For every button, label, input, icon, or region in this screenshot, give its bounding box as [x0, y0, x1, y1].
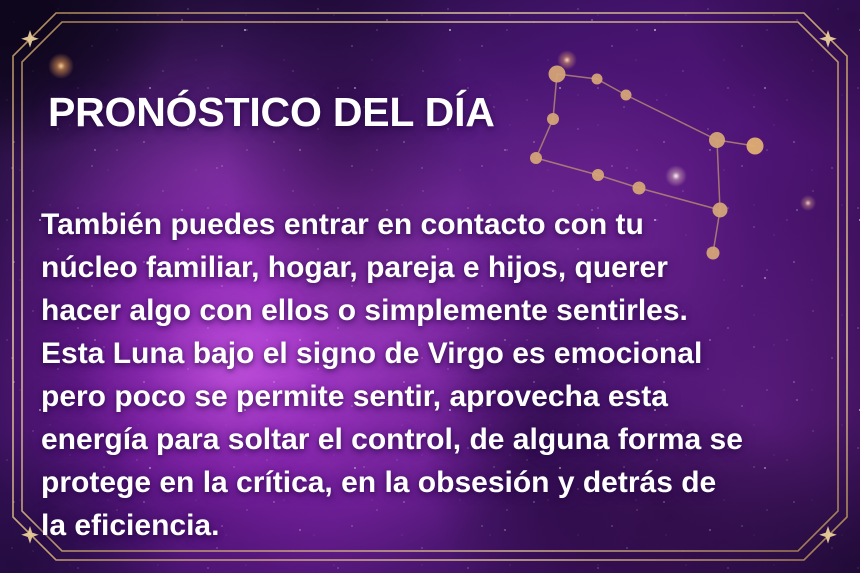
body-line: energía para soltar el control, de algun…: [41, 418, 831, 461]
card-content: PRONÓSTICO DEL DÍA También puedes entrar…: [0, 0, 860, 573]
body-line: protege en la crítica, en la obsesión y …: [41, 461, 831, 504]
horoscope-body: También puedes entrar en contacto con tu…: [41, 203, 831, 547]
body-line: la eficiencia.: [41, 504, 831, 547]
body-line: pero poco se permite sentir, aprovecha e…: [41, 375, 831, 418]
body-line: hacer algo con ellos o simplemente senti…: [41, 289, 831, 332]
body-line: núcleo familiar, hogar, pareja e hijos, …: [41, 246, 831, 289]
body-line: Esta Luna bajo el signo de Virgo es emoc…: [41, 332, 831, 375]
horoscope-card: PRONÓSTICO DEL DÍA También puedes entrar…: [0, 0, 860, 573]
page-title: PRONÓSTICO DEL DÍA: [48, 92, 495, 133]
body-line: También puedes entrar en contacto con tu: [41, 203, 831, 246]
